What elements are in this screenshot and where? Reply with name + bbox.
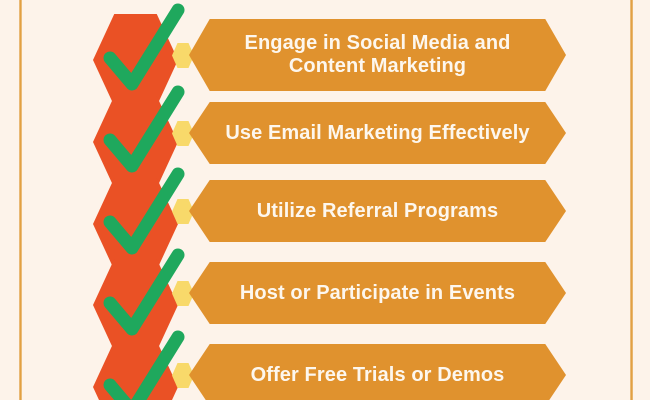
checklist-banner[interactable]: Engage in Social Media and Content Marke… xyxy=(189,19,566,91)
checklist-item-label: Engage in Social Media and Content Marke… xyxy=(215,32,539,78)
checklist-banner[interactable]: Offer Free Trials or Demos xyxy=(189,344,566,400)
checklist-banner[interactable]: Host or Participate in Events xyxy=(189,262,566,324)
left-frame-line xyxy=(19,0,22,400)
checklist-banner[interactable]: Use Email Marketing Effectively xyxy=(189,102,566,164)
checklist-item-label: Utilize Referral Programs xyxy=(215,200,539,223)
hexagon-checkbox[interactable] xyxy=(93,96,178,188)
checklist-item-label: Host or Participate in Events xyxy=(215,282,539,305)
hexagon-checkbox[interactable] xyxy=(93,178,178,270)
hexagon-checkbox[interactable] xyxy=(93,341,178,400)
checklist-banner[interactable]: Utilize Referral Programs xyxy=(189,180,566,242)
checklist-item-label: Offer Free Trials or Demos xyxy=(215,364,539,387)
infographic-canvas: Engage in Social Media and Content Marke… xyxy=(0,0,650,400)
right-frame-line xyxy=(630,0,633,400)
hexagon-checkbox[interactable] xyxy=(93,14,178,106)
checklist-item-label: Use Email Marketing Effectively xyxy=(215,122,539,145)
hexagon-checkbox[interactable] xyxy=(93,259,178,351)
